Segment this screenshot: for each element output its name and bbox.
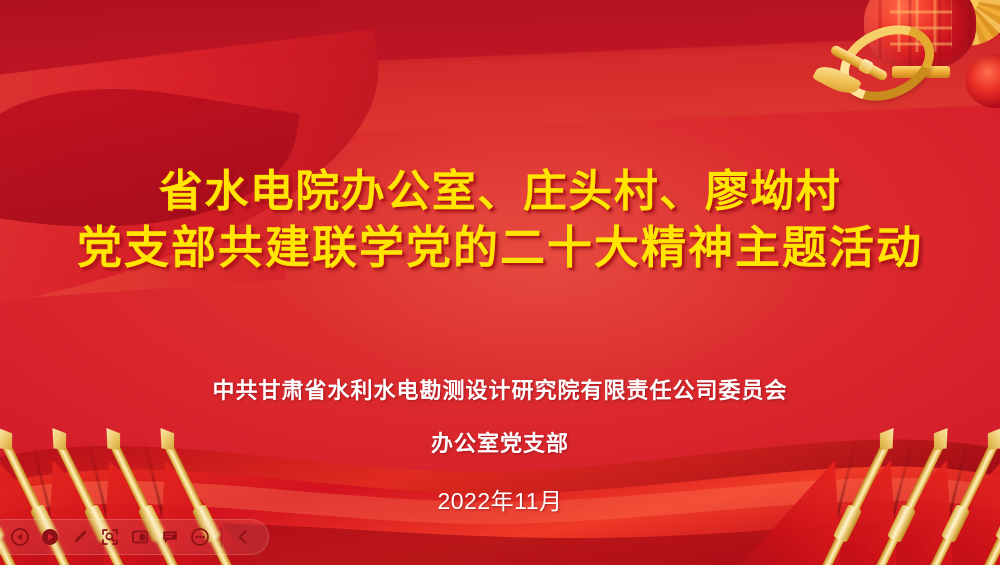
slide-title-line-2: 党支部共建联学党的二十大精神主题活动 [77,221,923,275]
presenter-view-button[interactable] [125,522,155,552]
notes-button[interactable] [155,522,185,552]
pen-icon [70,527,90,547]
slide-text-block: 省水电院办公室、庄头村、廖坳村 党支部共建联学党的二十大精神主题活动 中共甘肃省… [0,0,1000,565]
previous-arrow-icon [10,527,30,547]
toolbar-divider [221,527,222,547]
pen-tool-button[interactable] [65,522,95,552]
presenter-toolbar[interactable] [0,519,269,555]
comment-bubble-icon [160,527,180,547]
play-arrow-icon [40,527,60,547]
slide-title-line-1: 省水电院办公室、庄头村、廖坳村 [159,165,842,219]
organization-line-2: 办公室党支部 [431,426,569,458]
more-options-button[interactable] [185,522,215,552]
magnify-frame-icon [100,527,120,547]
collapse-toolbar-button[interactable] [228,522,258,552]
next-slide-button[interactable] [35,522,65,552]
zoom-region-button[interactable] [95,522,125,552]
presenter-screen-icon [130,527,150,547]
slide-date: 2022年11月 [437,482,562,516]
organization-line-1: 中共甘肃省水利水电勘测设计研究院有限责任公司委员会 [212,373,787,405]
previous-slide-button[interactable] [5,522,35,552]
chevron-left-icon [233,527,253,547]
ellipsis-icon [190,527,210,547]
presentation-slide: 省水电院办公室、庄头村、廖坳村 党支部共建联学党的二十大精神主题活动 中共甘肃省… [0,0,1000,565]
